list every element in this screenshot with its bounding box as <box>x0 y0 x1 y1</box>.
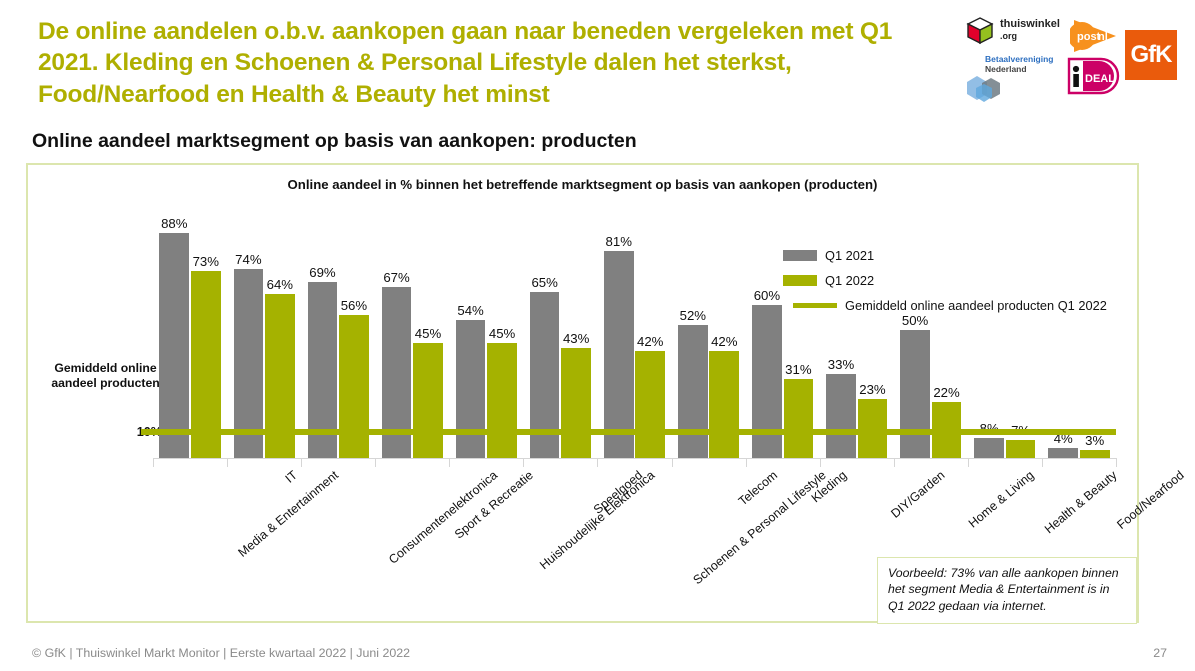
plot-area: 88%73%74%64%69%56%67%45%54%45%65%43%81%4… <box>153 215 1116 458</box>
footer-text: © GfK | Thuiswinkel Markt Monitor | Eers… <box>32 646 410 660</box>
x-axis-tick <box>746 458 747 467</box>
x-axis-tick <box>153 458 154 467</box>
x-axis-line <box>153 458 1116 459</box>
gfk-logo: GfK <box>1125 30 1177 80</box>
x-axis-tick <box>523 458 524 467</box>
bar-value-label: 45% <box>489 326 515 341</box>
thuiswinkel-cube-icon <box>965 16 995 46</box>
ideal-logo: DEAL <box>1065 56 1125 96</box>
x-axis-label: Home & Living <box>966 468 1037 531</box>
bar-value-label: 67% <box>383 270 409 285</box>
bar-q1-2022[interactable]: 3% <box>1080 450 1110 458</box>
bar-q1-2021[interactable]: 54% <box>456 320 486 458</box>
x-axis-tick <box>1116 458 1117 467</box>
bar-group: 33%23% <box>820 215 894 458</box>
bar-value-label: 3% <box>1085 433 1104 448</box>
bar-q1-2021[interactable]: 81% <box>604 251 634 458</box>
betaalvereniging-hexagon-icon <box>965 74 1007 106</box>
bar-group: 8%7% <box>968 215 1042 458</box>
bar-q1-2022[interactable]: 42% <box>635 351 665 458</box>
bar-value-label: 23% <box>859 382 885 397</box>
bar-value-label: 45% <box>415 326 441 341</box>
x-axis-tick <box>597 458 598 467</box>
svg-text:DEAL: DEAL <box>1085 73 1115 85</box>
betaalvereniging-line2: Nederland <box>985 64 1027 74</box>
x-axis-tick <box>1042 458 1043 467</box>
x-axis-tick <box>894 458 895 467</box>
bar-value-label: 43% <box>563 331 589 346</box>
bar-groups: 88%73%74%64%69%56%67%45%54%45%65%43%81%4… <box>153 215 1116 458</box>
bar-group: 54%45% <box>449 215 523 458</box>
bar-value-label: 69% <box>309 265 335 280</box>
bar-value-label: 52% <box>680 308 706 323</box>
bar-q1-2022[interactable]: 45% <box>487 343 517 458</box>
bar-value-label: 54% <box>457 303 483 318</box>
bar-group: 65%43% <box>523 215 597 458</box>
thuiswinkel-logo: thuiswinkel .org <box>965 16 1060 46</box>
x-axis-tick <box>301 458 302 467</box>
gfk-wordmark: GfK <box>1125 30 1177 80</box>
thuiswinkel-wordmark: thuiswinkel .org <box>1000 19 1060 42</box>
bar-q1-2021[interactable]: 33% <box>826 374 856 458</box>
x-axis-label: Telecom <box>736 468 780 508</box>
svg-text:nl: nl <box>1098 31 1108 43</box>
bar-value-label: 42% <box>637 334 663 349</box>
bar-group: 50%22% <box>894 215 968 458</box>
example-callout: Voorbeeld: 73% van alle aankopen binnen … <box>877 557 1137 624</box>
bar-group: 69%56% <box>301 215 375 458</box>
bar-q1-2021[interactable]: 88% <box>159 233 189 458</box>
bar-group: 4%3% <box>1042 215 1116 458</box>
bar-value-label: 64% <box>267 277 293 292</box>
slide-title: Online aandeel marktsegment op basis van… <box>32 130 637 153</box>
page-headline: De online aandelen o.b.v. aankopen gaan … <box>38 16 918 110</box>
bar-value-label: 81% <box>606 234 632 249</box>
x-axis-tick <box>820 458 821 467</box>
postnl-logo: post nl <box>1070 14 1120 58</box>
x-axis-tick <box>449 458 450 467</box>
bar-q1-2021[interactable]: 8% <box>974 438 1004 458</box>
bar-q1-2022[interactable]: 31% <box>784 379 814 458</box>
bar-q1-2021[interactable]: 52% <box>678 325 708 458</box>
x-axis-label: Food/Nearfood <box>1115 468 1187 532</box>
bar-group: 60%31% <box>746 215 820 458</box>
bar-value-label: 74% <box>235 252 261 267</box>
bar-value-label: 50% <box>902 313 928 328</box>
bar-value-label: 42% <box>711 334 737 349</box>
thuiswinkel-tld: .org <box>1000 31 1017 41</box>
bar-value-label: 73% <box>193 254 219 269</box>
bar-value-label: 65% <box>531 275 557 290</box>
page-number: 27 <box>1153 646 1167 660</box>
logo-strip: thuiswinkel .org Betaalvereniging Nederl… <box>955 10 1185 98</box>
bar-value-label: 60% <box>754 288 780 303</box>
x-axis-tick <box>672 458 673 467</box>
bar-group: 52%42% <box>672 215 746 458</box>
x-axis-tick <box>375 458 376 467</box>
bar-group: 74%64% <box>227 215 301 458</box>
bar-q1-2021[interactable]: 50% <box>900 330 930 458</box>
x-axis-label: Health & Beauty <box>1042 468 1120 536</box>
chart-subtitle: Online aandeel in % binnen het betreffen… <box>28 177 1137 192</box>
bar-q1-2022[interactable]: 43% <box>561 348 591 458</box>
bar-q1-2022[interactable]: 45% <box>413 343 443 458</box>
bar-value-label: 22% <box>933 385 959 400</box>
bar-group: 88%73% <box>153 215 227 458</box>
bar-group: 81%42% <box>597 215 671 458</box>
bar-q1-2022[interactable]: 42% <box>709 351 739 458</box>
x-axis-label: IT <box>283 468 300 486</box>
average-reference-line <box>141 429 1116 435</box>
y-axis-note: Gemiddeld online aandeel producten <box>48 361 163 392</box>
x-axis-tick <box>227 458 228 467</box>
bar-value-label: 88% <box>161 216 187 231</box>
bar-q1-2022[interactable]: 56% <box>339 315 369 458</box>
bar-q1-2021[interactable]: 4% <box>1048 448 1078 458</box>
bar-value-label: 56% <box>341 298 367 313</box>
bar-value-label: 33% <box>828 357 854 372</box>
betaalvereniging-line1: Betaalvereniging <box>985 54 1054 64</box>
chart-panel: Online aandeel in % binnen het betreffen… <box>26 163 1139 623</box>
x-axis-tick <box>968 458 969 467</box>
bar-q1-2022[interactable]: 7% <box>1006 440 1036 458</box>
bar-group: 67%45% <box>375 215 449 458</box>
thuiswinkel-name: thuiswinkel <box>1000 18 1060 30</box>
x-axis-label: DIY/Garden <box>888 468 947 521</box>
bar-value-label: 31% <box>785 362 811 377</box>
